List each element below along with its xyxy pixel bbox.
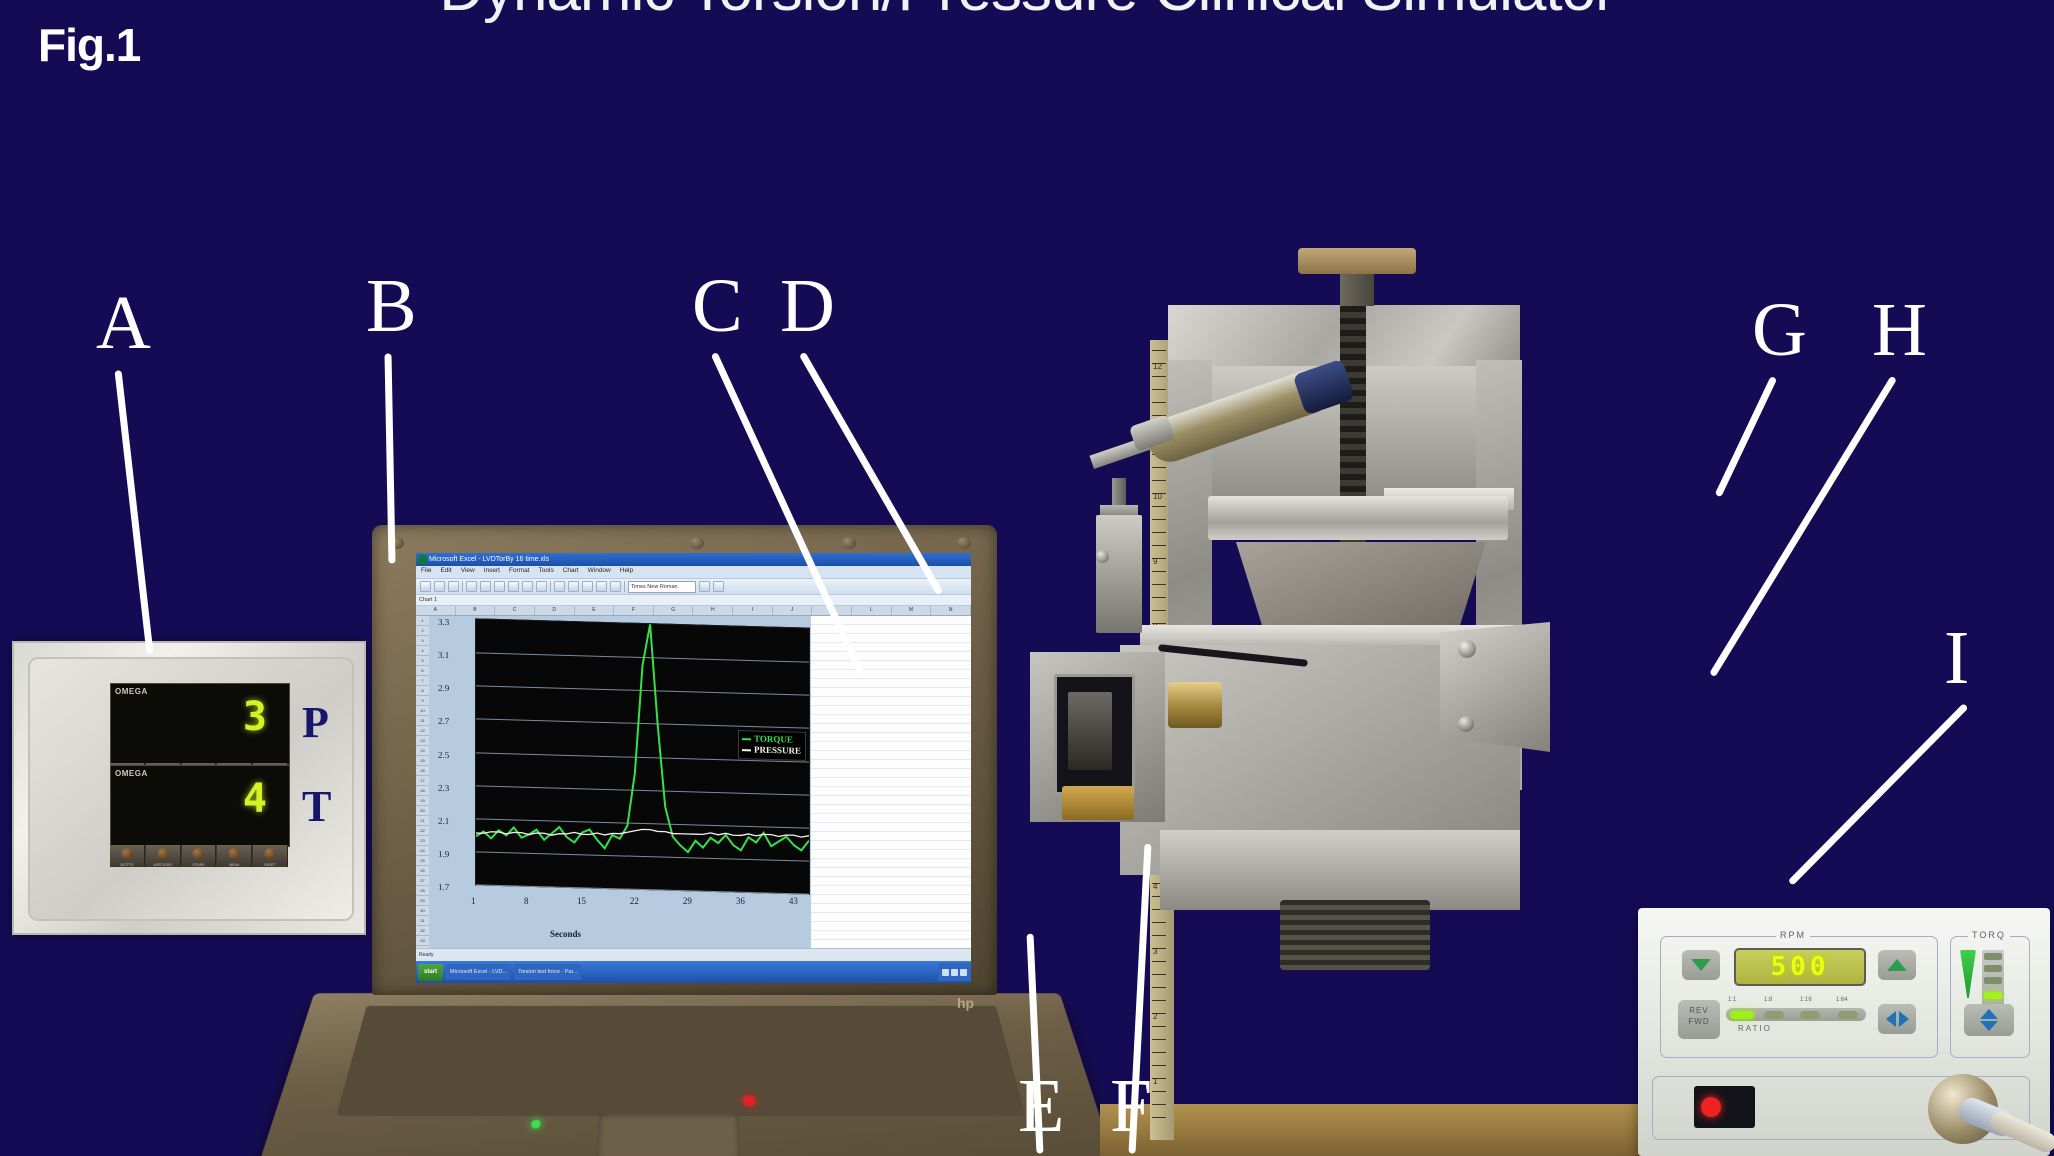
load-cell-core xyxy=(1068,692,1112,770)
row-header[interactable]: 3 xyxy=(416,636,429,646)
meter-torque-buttons[interactable]: SETPTS A/RST/GRO P/TARE MENU RESET xyxy=(110,845,288,867)
chart-y-tick-label: 1.7 xyxy=(438,882,449,892)
paste-icon[interactable] xyxy=(536,581,547,592)
autosum-icon[interactable] xyxy=(582,581,593,592)
ruler-tick xyxy=(1152,1091,1166,1092)
ruler-tick xyxy=(1152,1117,1166,1118)
meter-button-setpts[interactable]: SETPTS xyxy=(110,845,145,867)
grid-line xyxy=(811,912,971,913)
row-header[interactable]: 23 xyxy=(416,836,429,846)
hinge-bearing-block xyxy=(1440,622,1550,752)
laptop-screen: Microsoft Excel - LVDTorBy 16 time.xls F… xyxy=(416,553,971,983)
ruler-number: 9 xyxy=(1153,557,1157,566)
lid-screw-icon xyxy=(957,537,971,549)
spellcheck-icon[interactable] xyxy=(494,581,505,592)
ratio-led-2 xyxy=(1764,1011,1784,1019)
font-name-box[interactable]: Times New Roman xyxy=(628,581,696,593)
power-led-icon xyxy=(531,1120,541,1129)
column-header[interactable]: G xyxy=(654,606,694,615)
legend-swatch-torque xyxy=(742,738,751,740)
grid-line xyxy=(811,651,971,652)
callout-label-h: H xyxy=(1872,292,1927,368)
ratio-label-3: 1:16 xyxy=(1800,997,1812,1003)
excel-menu-bar[interactable]: File Edit View Insert Format Tools Chart… xyxy=(416,566,971,579)
grid-line xyxy=(811,903,971,904)
torque-led-2 xyxy=(1984,965,2002,972)
chart-x-tick-label: 22 xyxy=(630,896,639,906)
omega-logo: OMEGA xyxy=(115,769,148,778)
row-header[interactable]: 14 xyxy=(416,746,429,756)
chevron-down-icon xyxy=(1980,1021,1998,1031)
row-header[interactable]: 4 xyxy=(416,646,429,656)
transducer-pin xyxy=(1112,478,1126,508)
callout-label-b: B xyxy=(366,268,417,344)
legend-swatch-pressure xyxy=(742,749,751,751)
excel-column-headers: ABCDEFGHIJKLMN xyxy=(416,606,971,616)
ruler-tick xyxy=(1152,1052,1166,1053)
chart-x-tick-label: 29 xyxy=(683,896,692,906)
button-cap-icon xyxy=(265,848,276,859)
ruler-number: 4 xyxy=(1153,882,1157,891)
torque-adjust-button[interactable] xyxy=(1964,1004,2014,1036)
chart-y-tick-label: 2.9 xyxy=(438,683,449,693)
ratio-label-1: 1:1 xyxy=(1728,997,1736,1003)
menu-file[interactable]: File xyxy=(421,567,431,578)
column-header[interactable]: N xyxy=(931,606,971,615)
chart-y-tick-label: 2.3 xyxy=(438,782,449,792)
column-header[interactable]: J xyxy=(773,606,813,615)
save-icon[interactable] xyxy=(448,581,459,592)
grid-line xyxy=(811,939,971,940)
meter-button-menu[interactable]: MENU xyxy=(217,845,252,867)
rpm-value: 500 xyxy=(1771,952,1830,982)
row-header[interactable]: 33 xyxy=(416,936,429,946)
grid-line xyxy=(811,885,971,886)
ratio-led-active xyxy=(1730,1011,1754,1019)
base-block xyxy=(1160,830,1520,910)
laptop-lid: Microsoft Excel - LVDTorBy 16 time.xls F… xyxy=(372,525,997,995)
ruler-tick xyxy=(1152,935,1166,936)
ruler-tick xyxy=(1152,584,1166,585)
column-header[interactable]: M xyxy=(892,606,932,615)
ruler-tick xyxy=(1152,1065,1166,1066)
grid-line xyxy=(811,894,971,895)
lid-screw-icon xyxy=(690,537,704,549)
row-header[interactable]: 1 xyxy=(416,616,429,626)
grid-line xyxy=(811,822,971,823)
grid-line xyxy=(811,813,971,814)
row-header[interactable]: 20 xyxy=(416,806,429,816)
meter-torque-display: OMEGA 4 xyxy=(110,765,290,847)
ruler-tick xyxy=(1152,922,1166,923)
chart-y-tick-label: 2.5 xyxy=(438,749,449,759)
copy-icon[interactable] xyxy=(522,581,533,592)
grid-line xyxy=(811,876,971,877)
button-label: A/RST/GRO xyxy=(146,863,180,867)
row-header[interactable]: 13 xyxy=(416,736,429,746)
ruler-number: 10 xyxy=(1153,492,1162,501)
leader-line-g xyxy=(1715,376,1777,497)
row-header[interactable]: 18 xyxy=(416,786,429,796)
ruler-number: 2 xyxy=(1153,1012,1157,1021)
excel-toolbar[interactable]: Times New Roman xyxy=(416,579,971,595)
ruler-tick xyxy=(1152,506,1166,507)
row-header[interactable]: 15 xyxy=(416,756,429,766)
ruler-tick xyxy=(1152,987,1166,988)
row-header[interactable]: 6 xyxy=(416,666,429,676)
column-header[interactable]: I xyxy=(733,606,773,615)
meter-button-tare[interactable]: P/TARE xyxy=(182,845,217,867)
chart-y-tick-label: 1.9 xyxy=(438,849,449,859)
column-header[interactable]: C xyxy=(495,606,535,615)
ratio-caption: RATIO xyxy=(1738,1024,1772,1033)
grid-line xyxy=(811,687,971,688)
grid-line xyxy=(811,732,971,733)
lid-screw-icon xyxy=(842,537,856,549)
row-header[interactable]: 29 xyxy=(416,896,429,906)
ratio-label-4: 1:64 xyxy=(1836,997,1848,1003)
drive-motor-cap xyxy=(1298,248,1416,274)
button-label: SETPTS xyxy=(110,863,144,867)
italic-icon[interactable] xyxy=(713,581,724,592)
row-header[interactable]: 32 xyxy=(416,926,429,936)
chevron-down-icon xyxy=(1691,959,1711,971)
ruler-tick xyxy=(1152,350,1166,351)
grid-line xyxy=(811,921,971,922)
excel-cell-grid[interactable] xyxy=(811,616,971,983)
menu-chart[interactable]: Chart xyxy=(563,567,579,578)
column-header[interactable]: F xyxy=(614,606,654,615)
ruler-tick xyxy=(1152,1026,1166,1027)
name-box[interactable]: Chart 1 xyxy=(419,597,437,603)
grid-line xyxy=(811,660,971,661)
grid-line xyxy=(811,849,971,850)
excel-embedded-chart[interactable]: TORQUE PRESSURE Seconds 3.33.12.92.72.52… xyxy=(430,619,810,959)
ratio-select-button[interactable] xyxy=(1878,1004,1916,1034)
button-cap-icon xyxy=(193,848,204,859)
menu-insert[interactable]: Insert xyxy=(484,567,500,578)
ruler-tick xyxy=(1152,389,1166,390)
column-header[interactable]: H xyxy=(693,606,733,615)
ruler-number: 1 xyxy=(1153,1077,1157,1086)
figure-number-label: Fig.1 xyxy=(38,18,140,72)
drive-shaft xyxy=(1340,274,1374,306)
menu-tools[interactable]: Tools xyxy=(539,567,554,578)
rpm-increase-button[interactable] xyxy=(1878,950,1916,980)
chevron-up-icon xyxy=(1887,959,1907,971)
row-header[interactable]: 21 xyxy=(416,816,429,826)
omega-logo: OMEGA xyxy=(115,687,148,696)
ruler-number: 3 xyxy=(1153,947,1157,956)
chart-x-tick-label: 36 xyxy=(736,896,745,906)
leader-line-a xyxy=(115,370,154,654)
tray-volume-icon[interactable] xyxy=(951,969,958,976)
meter-pressure-value: 3 xyxy=(243,694,267,740)
meter-button-reset-grp[interactable]: A/RST/GRO xyxy=(146,845,181,867)
row-header[interactable]: 10 xyxy=(416,706,429,716)
speed-controller-box: RPM TORQ 500 REVFWD 1:1 1:8 1:16 1:64 RA… xyxy=(1638,908,2050,1156)
new-icon[interactable] xyxy=(420,581,431,592)
grid-line xyxy=(811,723,971,724)
row-header[interactable]: 24 xyxy=(416,846,429,856)
toolbar-divider xyxy=(462,581,463,592)
ratio-led-4 xyxy=(1838,1011,1858,1019)
grid-line xyxy=(811,840,971,841)
taskbar-item-document[interactable]: Torsion test force - Pai... xyxy=(514,964,581,980)
panel-inner-face: OMEGA 3 SETPTS A/RST/GRO P/TARE MENU RES… xyxy=(28,657,354,921)
row-header[interactable]: 19 xyxy=(416,796,429,806)
row-header[interactable]: 31 xyxy=(416,916,429,926)
excel-worksheet-body: 1234567891011121314151617181920212223242… xyxy=(416,616,971,983)
laptop-keyboard[interactable] xyxy=(336,1006,1025,1116)
sort-asc-icon[interactable] xyxy=(596,581,607,592)
rpm-decrease-button[interactable] xyxy=(1682,950,1720,980)
brass-coupling-fitting xyxy=(1168,682,1222,728)
grid-line xyxy=(811,768,971,769)
undo-icon[interactable] xyxy=(554,581,565,592)
redo-icon[interactable] xyxy=(568,581,579,592)
callout-label-d: D xyxy=(780,268,835,344)
row-header[interactable]: 16 xyxy=(416,766,429,776)
column-header[interactable]: D xyxy=(535,606,575,615)
ruler-tick xyxy=(1152,519,1166,520)
meter-button-reset[interactable]: RESET xyxy=(253,845,288,867)
button-cap-icon xyxy=(229,848,240,859)
chart-y-tick-label: 3.1 xyxy=(438,650,449,660)
pressure-transducer-body xyxy=(1096,515,1142,633)
chart-wizard-icon[interactable] xyxy=(610,581,621,592)
chevron-up-icon xyxy=(1980,1009,1998,1019)
load-cell-brass-fitting xyxy=(1062,786,1134,820)
power-led-icon xyxy=(1701,1097,1721,1117)
cut-icon[interactable] xyxy=(508,581,519,592)
row-header[interactable]: 25 xyxy=(416,856,429,866)
toolbar-divider xyxy=(550,581,551,592)
excel-formula-bar[interactable]: Chart 1 xyxy=(416,595,971,606)
grid-line xyxy=(811,867,971,868)
row-header[interactable]: 27 xyxy=(416,876,429,886)
meter-tag-pressure: P xyxy=(302,697,329,748)
chevron-left-icon xyxy=(1886,1011,1896,1027)
excel-app-icon xyxy=(418,555,427,564)
row-header[interactable]: 11 xyxy=(416,716,429,726)
ruler-tick xyxy=(1152,571,1166,572)
grid-line xyxy=(811,804,971,805)
menu-window[interactable]: Window xyxy=(588,567,611,578)
laptop-computer: Microsoft Excel - LVDTorBy 16 time.xls F… xyxy=(372,525,1012,1156)
excel-title-text: Microsoft Excel - LVDTorBy 16 time.xls xyxy=(429,556,549,563)
grid-line xyxy=(811,741,971,742)
grid-line xyxy=(811,678,971,679)
callout-label-g: G xyxy=(1752,292,1807,368)
figure-canvas: Dynamic Torsion/Pressure Clinical Simula… xyxy=(0,0,2054,1156)
button-label: MENU xyxy=(217,863,251,867)
button-label: P/TARE xyxy=(182,863,216,867)
grid-line xyxy=(811,750,971,751)
hinge-bolt-icon xyxy=(1458,640,1476,658)
print-icon[interactable] xyxy=(466,581,477,592)
grid-line xyxy=(811,696,971,697)
ruler-tick xyxy=(1152,480,1166,481)
grid-line xyxy=(811,759,971,760)
chart-y-tick-label: 2.7 xyxy=(438,716,449,726)
ruler-tick xyxy=(1152,532,1166,533)
rpm-display: 500 xyxy=(1734,948,1866,986)
leader-line-h xyxy=(1709,376,1897,678)
grid-line xyxy=(811,633,971,634)
loading-platen xyxy=(1208,496,1508,540)
ruler-tick xyxy=(1152,467,1166,468)
power-switch[interactable] xyxy=(1694,1086,1755,1128)
print-preview-icon[interactable] xyxy=(480,581,491,592)
button-label: RESET xyxy=(253,863,287,867)
windows-taskbar[interactable]: start Microsoft Excel - LVD... Torsion t… xyxy=(416,961,971,983)
meter-tag-torque: T xyxy=(302,781,331,832)
chart-y-tick-label: 2.1 xyxy=(438,816,449,826)
column-header[interactable]: B xyxy=(456,606,496,615)
lower-drive-motor xyxy=(1280,900,1430,970)
row-header[interactable]: 7 xyxy=(416,676,429,686)
grid-line xyxy=(811,777,971,778)
chart-x-tick-label: 8 xyxy=(524,896,529,906)
button-cap-icon xyxy=(157,848,168,859)
row-header[interactable]: 12 xyxy=(416,726,429,736)
row-header[interactable]: 17 xyxy=(416,776,429,786)
callout-label-a: A xyxy=(96,285,151,361)
ruler-tick xyxy=(1152,376,1166,377)
grid-line xyxy=(811,714,971,715)
chart-x-tick-label: 1 xyxy=(471,896,476,906)
grid-line xyxy=(811,669,971,670)
callout-label-i: I xyxy=(1944,620,1969,696)
transducer-screw-icon xyxy=(1096,550,1109,563)
callout-label-c: C xyxy=(692,268,743,344)
grid-line xyxy=(811,642,971,643)
row-header[interactable]: 5 xyxy=(416,656,429,666)
torque-led-stack xyxy=(1982,950,2004,1008)
legend-entry-pressure: PRESSURE xyxy=(742,744,801,757)
menu-view[interactable]: View xyxy=(461,567,475,578)
ratio-label-2: 1:8 xyxy=(1764,997,1772,1003)
ruler-tick xyxy=(1152,1039,1166,1040)
bold-icon[interactable] xyxy=(699,581,710,592)
ratio-indicator-bar[interactable]: 1:1 1:8 1:16 1:64 xyxy=(1726,1008,1866,1021)
grid-line xyxy=(811,930,971,931)
ruler-tick xyxy=(1152,1000,1166,1001)
row-header[interactable]: 30 xyxy=(416,906,429,916)
column-header[interactable]: E xyxy=(575,606,615,615)
chart-x-tick-label: 15 xyxy=(577,896,586,906)
ruler-tick xyxy=(1152,974,1166,975)
taskbar-item-excel[interactable]: Microsoft Excel - LVD... xyxy=(446,964,511,980)
chart-legend: TORQUE PRESSURE xyxy=(738,730,806,761)
ruler-tick xyxy=(1152,545,1166,546)
chart-x-tick-label: 43 xyxy=(789,896,798,906)
leader-line-i xyxy=(1788,703,1969,886)
meter-torque-value: 4 xyxy=(243,776,267,822)
grid-line xyxy=(811,795,971,796)
excel-title-bar: Microsoft Excel - LVDTorBy 16 time.xls xyxy=(416,553,971,566)
row-header[interactable]: 8 xyxy=(416,686,429,696)
laptop-base xyxy=(255,993,1118,1156)
menu-edit[interactable]: Edit xyxy=(440,567,451,578)
grid-line xyxy=(811,705,971,706)
tray-clock-icon[interactable] xyxy=(960,969,967,976)
row-header[interactable]: 28 xyxy=(416,886,429,896)
ruler-tick xyxy=(1152,597,1166,598)
toolbar-divider xyxy=(624,581,625,592)
torque-group-label: TORQ xyxy=(1968,930,2010,940)
meter-pressure-display: OMEGA 3 xyxy=(110,683,290,765)
figure-main-title: Dynamic Torsion/Pressure Clinical Simula… xyxy=(0,0,2054,25)
ruler-tick xyxy=(1152,610,1166,611)
row-header[interactable]: 9 xyxy=(416,696,429,706)
grid-line xyxy=(811,858,971,859)
torque-led-4 xyxy=(1984,992,2002,999)
chart-y-tick-label: 3.3 xyxy=(438,617,449,627)
excel-row-headers: 1234567891011121314151617181920212223242… xyxy=(416,616,429,983)
torque-led-3 xyxy=(1984,977,2002,984)
menu-help[interactable]: Help xyxy=(620,567,633,578)
direction-toggle-button[interactable]: REVFWD xyxy=(1678,1000,1720,1039)
grid-line xyxy=(811,786,971,787)
ruler-tick xyxy=(1152,1104,1166,1105)
system-tray[interactable] xyxy=(938,963,971,981)
omega-control-panel: OMEGA 3 SETPTS A/RST/GRO P/TARE MENU RES… xyxy=(12,641,366,935)
laptop-touchpad[interactable] xyxy=(596,1114,740,1156)
ruler-number: 12 xyxy=(1153,362,1162,371)
rpm-group-label: RPM xyxy=(1776,930,1810,940)
trackpoint-icon xyxy=(743,1095,756,1106)
torque-led-1 xyxy=(1984,953,2002,960)
specimen-fixture xyxy=(1236,542,1486,638)
ruler-tick xyxy=(1152,402,1166,403)
ruler-tick xyxy=(1152,961,1166,962)
start-button[interactable]: start xyxy=(418,964,443,981)
open-icon[interactable] xyxy=(434,581,445,592)
menu-format[interactable]: Format xyxy=(509,567,530,578)
laptop-brand-logo: hp xyxy=(957,995,974,1011)
chevron-right-icon xyxy=(1899,1011,1909,1027)
status-text: Ready xyxy=(419,952,433,958)
row-header[interactable]: 22 xyxy=(416,826,429,836)
tray-network-icon[interactable] xyxy=(942,969,949,976)
row-header[interactable]: 2 xyxy=(416,626,429,636)
row-header[interactable]: 26 xyxy=(416,866,429,876)
hinge-bolt-icon xyxy=(1458,716,1474,732)
button-cap-icon xyxy=(121,848,132,859)
ratio-led-3 xyxy=(1800,1011,1820,1019)
chart-x-axis-title: Seconds xyxy=(550,929,581,939)
column-header[interactable]: A xyxy=(416,606,456,615)
excel-status-bar: Ready xyxy=(416,948,971,961)
grid-line xyxy=(811,831,971,832)
column-header[interactable]: L xyxy=(852,606,892,615)
